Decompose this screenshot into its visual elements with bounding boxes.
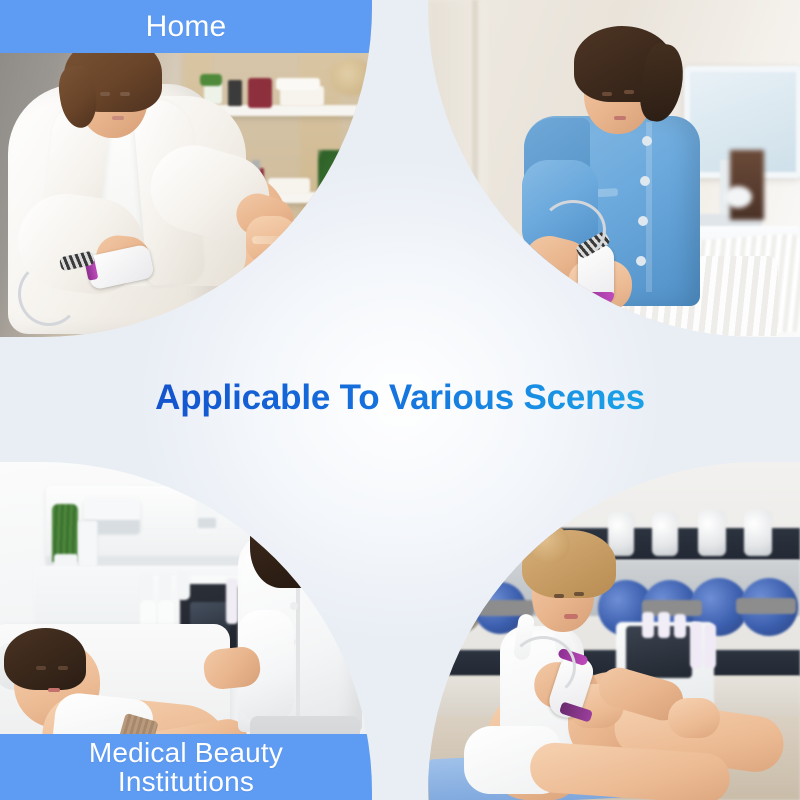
label-line-2: Institutions <box>118 766 254 797</box>
quadrant-medical-beauty-institutions[interactable]: Medical Beauty Institutions <box>0 462 372 800</box>
scene-collage: Home <box>0 0 800 800</box>
quadrant-fitness-club[interactable]: Fitness Club <box>428 462 800 800</box>
label-medical-beauty-institutions: Medical Beauty Institutions <box>0 734 372 800</box>
page-title: Applicable To Various Scenes <box>0 372 800 424</box>
quadrant-beauty-salons[interactable]: Beauty Salons <box>428 0 800 337</box>
label-line-1: Medical Beauty <box>89 737 283 768</box>
quadrant-beauty-salons-photo <box>428 0 800 337</box>
quadrant-home[interactable]: Home <box>0 0 372 337</box>
quadrant-fitness-club-photo <box>428 462 800 800</box>
label-home: Home <box>0 0 372 53</box>
